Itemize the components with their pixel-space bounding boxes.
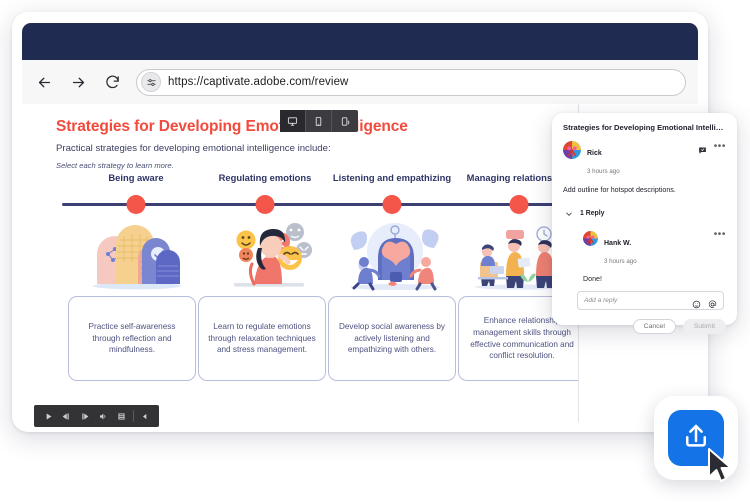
comment-body: Add outline for hotspot descriptions. — [563, 186, 726, 196]
screenshot-root: https://captivate.adobe.com/review Strat… — [0, 0, 750, 502]
strategy-card-text: Learn to regulate emotions through relax… — [206, 321, 318, 356]
reply-item: Hank W. 3 hours ago ••• Done! — [583, 231, 726, 283]
comment-author-name: Rick — [587, 150, 602, 157]
device-preview-toolbar — [280, 110, 358, 132]
hotspot-label-0: Being aware — [108, 172, 163, 183]
strategy-card-text: Develop social awareness by actively lis… — [336, 321, 448, 356]
hotspot-label-2: Listening and empathizing — [333, 172, 451, 183]
collapse-icon[interactable] — [136, 405, 154, 427]
reply-author-name: Hank W. — [604, 240, 631, 247]
hotspot-node-0[interactable] — [127, 195, 146, 214]
hotspot-label-1: Regulating emotions — [219, 172, 312, 183]
comment-author-row: Rick 3 hours ago ••• — [563, 141, 726, 178]
site-settings-icon[interactable] — [141, 72, 161, 92]
comment-buttons: Cancel Submit — [563, 319, 726, 334]
reply-meta: Hank W. 3 hours ago — [604, 231, 708, 268]
comment-timestamp: 3 hours ago — [587, 168, 620, 175]
browser-titlebar — [22, 23, 698, 60]
reload-icon[interactable] — [102, 72, 122, 92]
reply-body: Done! — [583, 275, 726, 283]
desktop-icon[interactable] — [280, 110, 306, 132]
tablet-icon[interactable] — [306, 110, 332, 132]
mouse-cursor — [706, 447, 736, 485]
chevron-down-icon — [565, 205, 573, 223]
avatar — [563, 141, 581, 159]
slide-hint: Select each strategy to learn more. — [56, 161, 174, 170]
mention-icon[interactable] — [708, 296, 717, 305]
forward-icon[interactable] — [68, 72, 88, 92]
illustration-being-aware — [72, 214, 202, 292]
illustration-regulating-emotions — [202, 214, 332, 292]
illustration-listening-empathizing — [330, 214, 460, 292]
browser-toolbar: https://captivate.adobe.com/review — [22, 60, 698, 104]
more-options-icon[interactable]: ••• — [714, 232, 726, 238]
emoji-icon[interactable] — [692, 296, 701, 305]
address-bar[interactable]: https://captivate.adobe.com/review — [136, 69, 686, 96]
slide-subtitle: Practical strategies for developing emot… — [56, 143, 331, 154]
divider — [133, 410, 134, 422]
reply-input[interactable]: Add a reply — [577, 291, 724, 310]
cancel-button[interactable]: Cancel — [633, 319, 676, 334]
replies-count-label: 1 Reply — [580, 210, 605, 217]
comment-actions: ••• — [698, 141, 726, 151]
next-slide-icon[interactable] — [76, 405, 94, 427]
resolve-icon[interactable] — [698, 142, 707, 151]
avatar — [583, 231, 598, 246]
hotspot-node-3[interactable] — [510, 195, 529, 214]
comment-thread-card: Strategies for Developing Emotional Inte… — [552, 113, 737, 325]
table-of-contents-icon[interactable] — [112, 405, 130, 427]
strategy-card[interactable]: Develop social awareness by actively lis… — [328, 296, 456, 381]
submit-button[interactable]: Submit — [683, 319, 726, 334]
back-icon[interactable] — [34, 72, 54, 92]
strategy-card[interactable]: Practice self-awareness through reflecti… — [68, 296, 196, 381]
hotspot-node-1[interactable] — [256, 195, 275, 214]
comment-meta: Rick 3 hours ago — [587, 141, 692, 178]
playback-controls — [34, 405, 159, 427]
more-options-icon[interactable]: ••• — [714, 144, 726, 150]
strategy-card[interactable]: Learn to regulate emotions through relax… — [198, 296, 326, 381]
previous-slide-icon[interactable] — [57, 405, 75, 427]
mobile-rotate-icon[interactable] — [332, 110, 358, 132]
reply-actions: ••• — [714, 231, 726, 238]
address-bar-text: https://captivate.adobe.com/review — [168, 76, 348, 88]
strategy-card-text: Practice self-awareness through reflecti… — [76, 321, 188, 356]
hotspot-node-2[interactable] — [383, 195, 402, 214]
play-icon[interactable] — [39, 405, 57, 427]
reply-placeholder: Add a reply — [584, 297, 685, 304]
reply-author-row: Hank W. 3 hours ago ••• — [583, 231, 726, 268]
replies-toggle[interactable]: 1 Reply — [565, 205, 726, 223]
comment-thread-title: Strategies for Developing Emotional Inte… — [563, 123, 726, 132]
reply-timestamp: 3 hours ago — [604, 258, 637, 265]
volume-icon[interactable] — [94, 405, 112, 427]
